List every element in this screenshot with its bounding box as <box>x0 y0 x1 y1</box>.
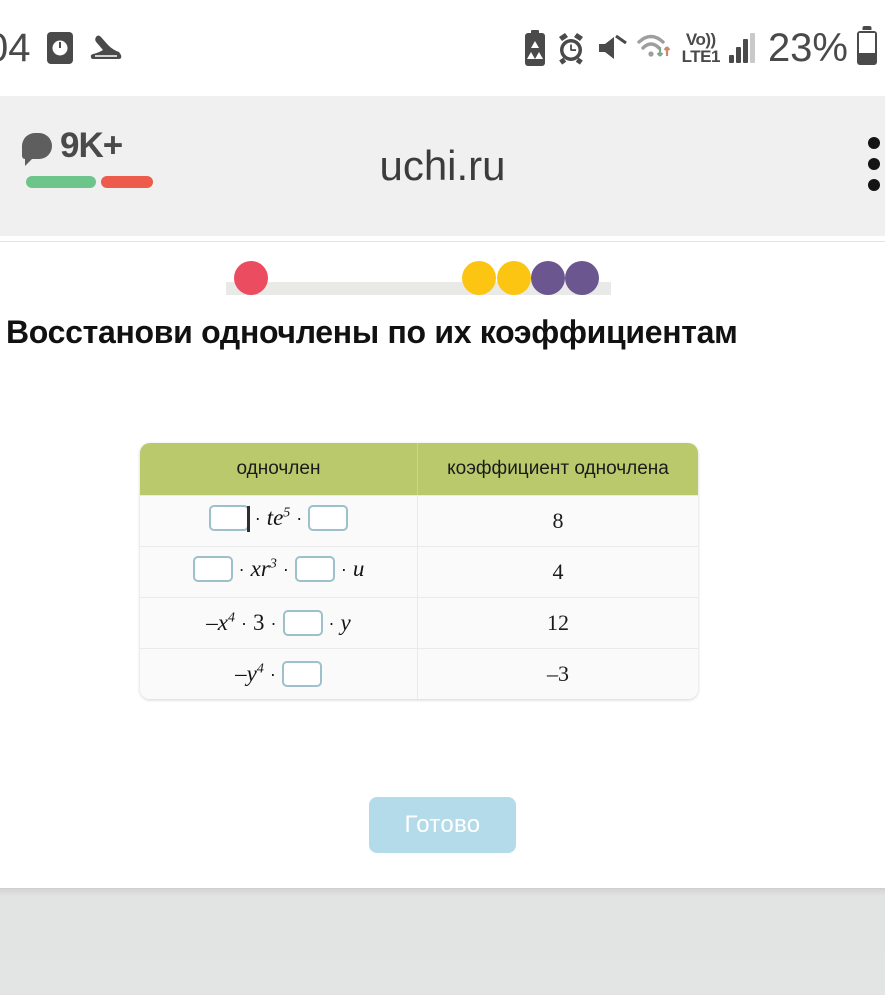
alarm-square-icon <box>47 32 73 64</box>
coefficient-value-4: –3 <box>547 661 569 686</box>
multiply-dot: · <box>294 508 304 529</box>
score-bar-green <box>26 176 96 188</box>
submit-area: Готово <box>0 797 885 853</box>
variable-y: y <box>341 610 351 636</box>
progress-dot-upcoming-1[interactable] <box>462 261 496 295</box>
monomial-cell-4: –y4 · <box>140 648 418 699</box>
coefficient-value-1: 8 <box>553 508 564 533</box>
coefficient-cell-2: 4 <box>418 546 698 597</box>
table-row: –y4 · –3 <box>140 648 698 699</box>
submit-button[interactable]: Готово <box>369 797 517 853</box>
coefficient-cell-1: 8 <box>418 495 698 546</box>
monomial-cell-3: –x4 · 3 · · y <box>140 597 418 648</box>
monomial-table-wrapper: одночлен коэффициент одночлена · te5 · <box>0 443 885 699</box>
progress-dot-upcoming-3[interactable] <box>531 261 565 295</box>
battery-saver-icon <box>524 30 546 66</box>
volte-top-label: Vo)) <box>686 31 716 48</box>
status-bar-left-group: 04 <box>0 26 123 71</box>
progress-indicator <box>0 242 885 308</box>
table-row: · xr3 · · u 4 <box>140 546 698 597</box>
status-bar-right-group: Vo)) LTE1 23% <box>524 26 877 71</box>
system-bottom-area <box>0 888 885 995</box>
multiply-dot: · <box>269 613 279 634</box>
progress-dot-upcoming-2[interactable] <box>497 261 531 295</box>
variable-neg-y: –y4 <box>235 661 264 687</box>
column-header-monomial: одночлен <box>140 443 418 495</box>
chat-count-label: 9K+ <box>60 126 122 166</box>
expression-1: · te5 · <box>209 505 349 531</box>
multiply-dot: · <box>339 559 349 580</box>
battery-percent-label: 23% <box>768 26 848 71</box>
signal-bars-icon <box>729 33 755 63</box>
variable-neg-x: –x4 <box>206 610 235 636</box>
monomial-cell-2: · xr3 · · u <box>140 546 418 597</box>
table-row: · te5 · 8 <box>140 495 698 546</box>
coefficient-cell-4: –3 <box>418 648 698 699</box>
coefficient-value-2: 4 <box>553 559 564 584</box>
kebab-dot-3 <box>868 179 880 191</box>
variable-te: te5 <box>267 505 291 531</box>
table-header-row: одночлен коэффициент одночлена <box>140 443 698 495</box>
wifi-icon <box>637 32 673 64</box>
network-type-label: Vo)) LTE1 <box>682 31 720 65</box>
expression-4: –y4 · <box>235 661 322 687</box>
multiply-dot: · <box>268 664 278 685</box>
variable-xr: xr3 <box>251 556 277 582</box>
monomial-cell-1: · te5 · <box>140 495 418 546</box>
alarm-clock-icon <box>555 31 587 65</box>
chat-counter-row[interactable]: 9K+ <box>22 126 182 166</box>
progress-dot-current[interactable] <box>234 261 268 295</box>
multiply-dot: · <box>239 613 249 634</box>
page-title: Восстанови одночлены по их коэффициентам <box>0 314 885 351</box>
constant-3: 3 <box>253 610 265 636</box>
kebab-menu-icon[interactable] <box>862 133 885 195</box>
column-header-coefficient: коэффициент одночлена <box>418 443 698 495</box>
variable-u: u <box>353 556 365 582</box>
coefficient-value-3: 12 <box>547 610 569 635</box>
kebab-dot-1 <box>868 137 880 149</box>
answer-input-3a[interactable] <box>283 610 323 636</box>
android-status-bar: 04 <box>0 0 885 96</box>
score-bar-red <box>101 176 153 188</box>
monomial-table: одночлен коэффициент одночлена · te5 · <box>140 443 698 699</box>
coefficient-cell-3: 12 <box>418 597 698 648</box>
status-clock: 04 <box>0 26 31 71</box>
expression-2: · xr3 · · u <box>193 556 365 582</box>
table-row: –x4 · 3 · · y 12 <box>140 597 698 648</box>
answer-input-4a[interactable] <box>282 661 322 687</box>
progress-dot-upcoming-4[interactable] <box>565 261 599 295</box>
table-head: одночлен коэффициент одночлена <box>140 443 698 495</box>
exercise-page: Восстанови одночлены по их коэффициентам… <box>0 242 885 888</box>
answer-input-1a[interactable] <box>209 505 249 531</box>
answer-input-1b[interactable] <box>308 505 348 531</box>
multiply-dot: · <box>253 508 263 529</box>
battery-icon <box>857 31 877 65</box>
multiply-dot: · <box>237 559 247 580</box>
volte-bottom-label: LTE1 <box>682 48 720 65</box>
table-body: · te5 · 8 · x <box>140 495 698 699</box>
kebab-dot-2 <box>868 158 880 170</box>
multiply-dot: · <box>281 559 291 580</box>
multiply-dot: · <box>327 613 337 634</box>
pedometer-shoe-icon <box>89 33 123 63</box>
chat-counter-block[interactable]: 9K+ <box>22 126 182 188</box>
expression-3: –x4 · 3 · · y <box>206 610 350 636</box>
answer-input-2b[interactable] <box>295 556 335 582</box>
mute-speaker-icon <box>596 32 628 64</box>
score-bars <box>26 176 182 188</box>
speech-bubble-icon[interactable] <box>22 133 52 159</box>
answer-input-2a[interactable] <box>193 556 233 582</box>
